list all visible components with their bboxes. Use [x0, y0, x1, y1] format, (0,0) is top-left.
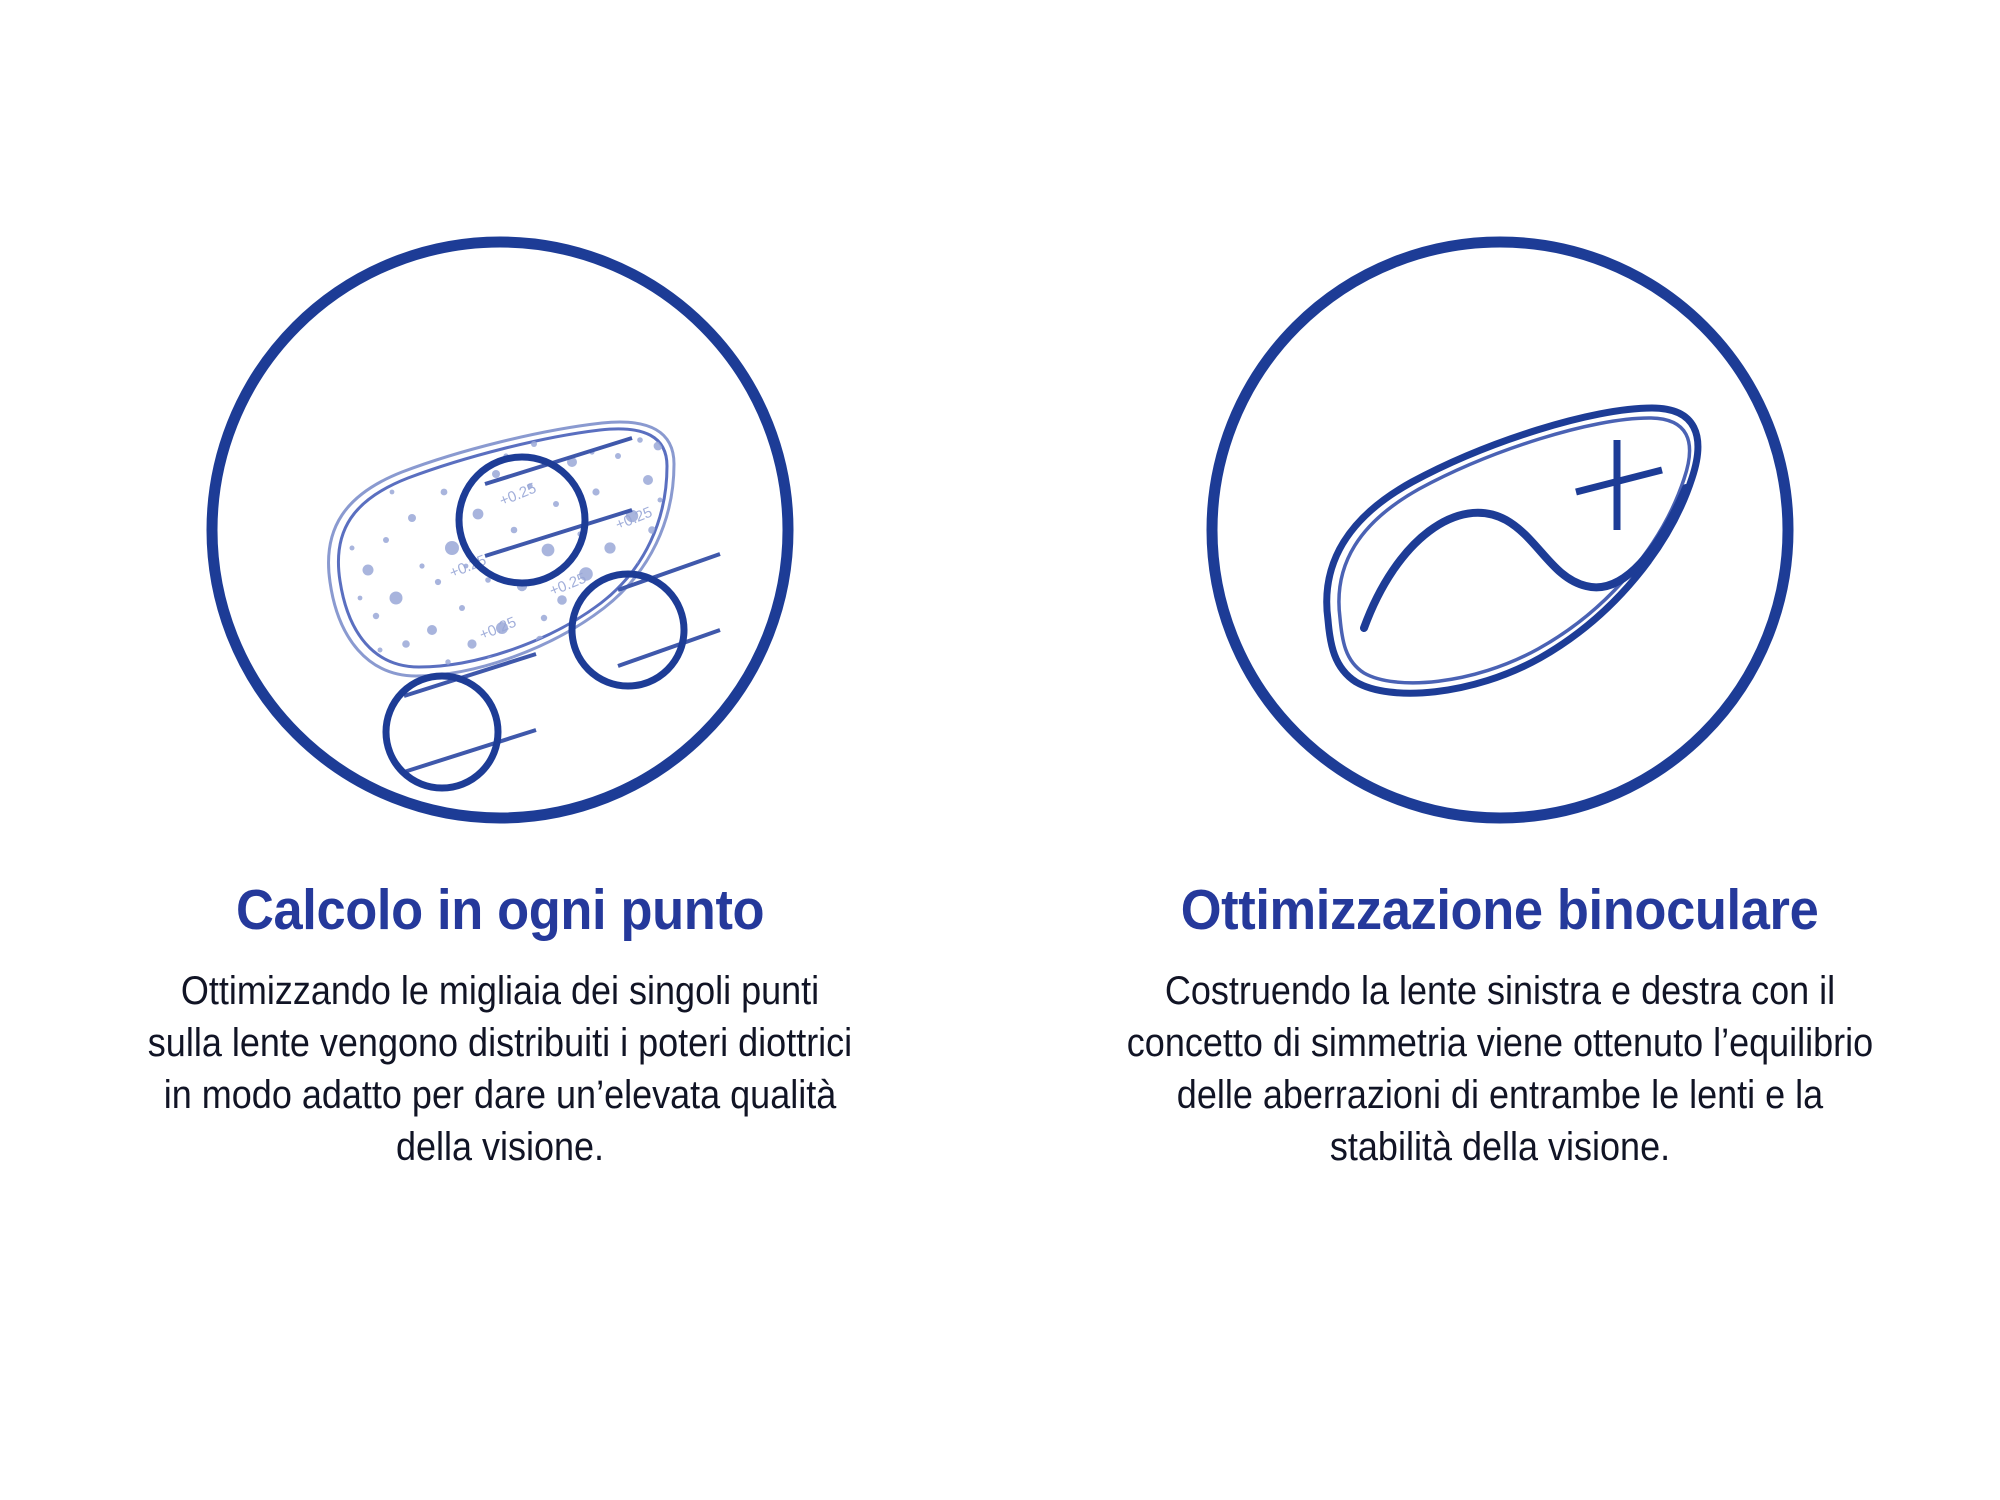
icon-outer-circle: [1212, 242, 1788, 818]
symmetry-wave-curve: [1364, 488, 1686, 628]
card-body-text: Costruendo la lente sinistra e destra co…: [1127, 965, 1874, 1173]
feature-cards-page: +0.25 +0.25 +0.25 +0.25 +0.25 +0.25: [0, 0, 2000, 1500]
lens-blank-shape-inner: [1339, 418, 1690, 683]
feature-card-calcolo-in-ogni-punto: +0.25 +0.25 +0.25 +0.25 +0.25 +0.25: [0, 0, 1000, 1173]
binocular-optimization-icon: [1200, 230, 1800, 830]
plus-sign-icon: [1576, 440, 1662, 530]
card-title: Ottimizzazione binoculare: [1181, 882, 1819, 939]
feature-card-ottimizzazione-binoculare: Ottimizzazione binoculare Costruendo la …: [1000, 0, 2000, 1173]
card-body-text: Ottimizzando le migliaia dei singoli pun…: [140, 965, 860, 1173]
cards-row: +0.25 +0.25 +0.25 +0.25 +0.25 +0.25: [0, 0, 2000, 1173]
lens-point-by-point-calculation-icon: +0.25 +0.25 +0.25 +0.25 +0.25 +0.25: [200, 230, 800, 830]
lens-blank-shape: [1327, 408, 1698, 693]
card-title: Calcolo in ogni punto: [236, 882, 764, 939]
